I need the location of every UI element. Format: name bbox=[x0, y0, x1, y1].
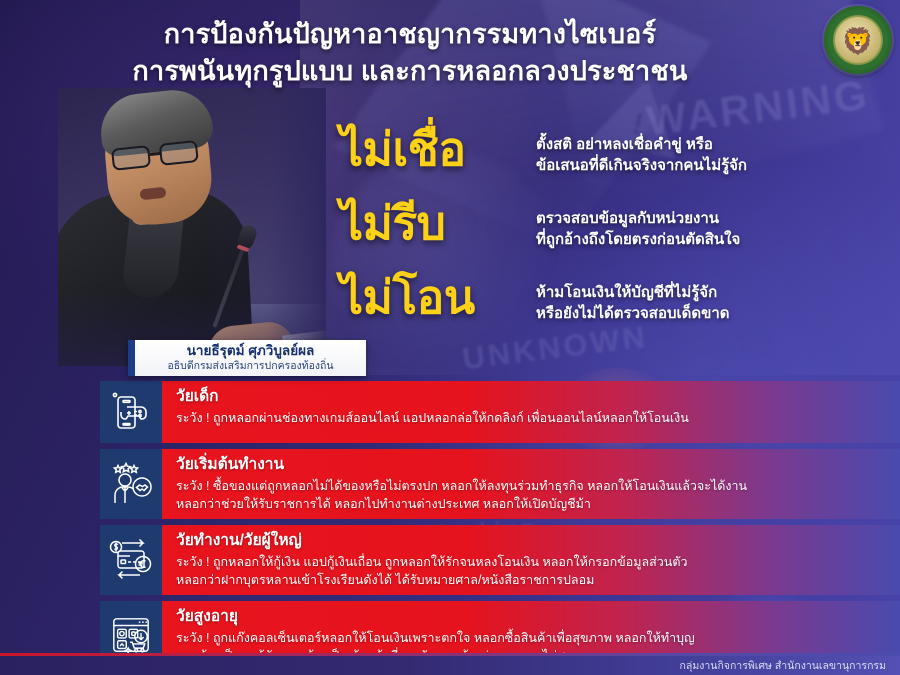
age-group-body-line-2: หลอกว่าฝากบุตรหลานเข้าโรงเรียนดังได้ ได้… bbox=[176, 571, 888, 589]
slogan-keyword: ไม่โอน bbox=[340, 272, 526, 323]
age-group-text: วัยเด็ก ระวัง ! ถูกหลอกผ่านช่องทางเกมส์อ… bbox=[162, 381, 900, 443]
speaker-position: อธิบดีกรมส่งเสริมการปกครองท้องถิ่น bbox=[135, 360, 366, 373]
title-line-1: การป้องกันปัญหาอาชญากรรมทางไซเบอร์ bbox=[0, 16, 820, 53]
seal-lion-glyph: 🦁 bbox=[842, 28, 874, 54]
footer-accent-line bbox=[0, 653, 900, 656]
age-group-title: วัยเด็ก bbox=[176, 388, 888, 407]
slogan-description: ตรวจสอบข้อมูลกับหน่วยงาน ที่ถูกอ้างถึงโด… bbox=[536, 208, 882, 251]
money-transfer-card-icon bbox=[100, 525, 162, 595]
slogan-description-line-2: ข้อเสนอที่ดีเกินจริงจากคนไม่รู้จัก bbox=[536, 155, 882, 176]
slogan-description-line-2: ที่ถูกอ้างถึงโดยตรงก่อนตัดสินใจ bbox=[536, 229, 882, 250]
slogan-keyword: ไม่รีบ bbox=[340, 198, 526, 249]
age-group-title: วัยสูงอายุ bbox=[176, 608, 888, 627]
speaker-name: นายธีรุตม์ ศุภวิบูลย์ผล bbox=[135, 343, 366, 359]
speaker-portrait bbox=[58, 88, 326, 366]
portrait-fade-overlay bbox=[58, 88, 326, 366]
age-group-body-line-1: ระวัง ! ถูกแก๊งคอลเซ็นเตอร์หลอกให้โอนเงิ… bbox=[176, 629, 888, 647]
age-group-list: วัยเด็ก ระวัง ! ถูกหลอกผ่านช่องทางเกมส์อ… bbox=[100, 381, 900, 675]
slogan-description: ตั้งสติ อย่าหลงเชื่อคำขู่ หรือ ข้อเสนอที… bbox=[536, 134, 882, 177]
age-group-body: ระวัง ! ถูกหลอกให้กู้เงิน แอปกู้เงินเถื่… bbox=[176, 553, 888, 589]
age-group-body-line-1: ระวัง ! ซื้อของแต่ถูกหลอกไม่ได้ของหรือไม… bbox=[176, 477, 888, 495]
speaker-name-banner: นายธีรุตม์ ศุภวิบูลย์ผล อธิบดีกรมส่งเสริ… bbox=[128, 340, 366, 376]
poster-root: WARNING UNKNOWN Phishing Hacking การป้อง… bbox=[0, 0, 900, 675]
businessman-handshake-stars-icon bbox=[100, 449, 162, 519]
age-group-row: วัยเริ่มต้นทำงาน ระวัง ! ซื้อของแต่ถูกหล… bbox=[100, 449, 900, 519]
age-group-body-line-1: ระวัง ! ถูกหลอกให้กู้เงิน แอปกู้เงินเถื่… bbox=[176, 553, 888, 571]
slogan-item-3: ไม่โอน ห้ามโอนเงินให้บัญชีที่ไม่รู้จัก ห… bbox=[340, 276, 880, 346]
age-group-body-line-1: ระวัง ! ถูกหลอกผ่านช่องทางเกมส์ออนไลน์ แ… bbox=[176, 409, 888, 427]
slogan-keyword: ไม่เชื่อ bbox=[340, 124, 526, 175]
slogan-item-2: ไม่รีบ ตรวจสอบข้อมูลกับหน่วยงาน ที่ถูกอ้… bbox=[340, 202, 880, 272]
footer-credit: กลุ่มงานกิจการพิเศษ สำนักงานเลขานุการกรม bbox=[680, 657, 886, 674]
header: การป้องกันปัญหาอาชญากรรมทางไซเบอร์ การพน… bbox=[0, 0, 900, 92]
slogan-description-line-1: ห้ามโอนเงินให้บัญชีที่ไม่รู้จัก bbox=[536, 282, 882, 303]
age-group-text: วัยทำงาน/วัยผู้ใหญ่ ระวัง ! ถูกหลอกให้กู… bbox=[162, 525, 900, 595]
age-group-body: ระวัง ! ซื้อของแต่ถูกหลอกไม่ได้ของหรือไม… bbox=[176, 477, 888, 513]
slogan-description-line-2: หรือยังไม่ได้ตรวจสอบเด็ดขาด bbox=[536, 303, 882, 324]
age-group-row: วัยทำงาน/วัยผู้ใหญ่ ระวัง ! ถูกหลอกให้กู… bbox=[100, 525, 900, 595]
smartphone-gamepad-icon bbox=[100, 381, 162, 443]
age-group-title: วัยเริ่มต้นทำงาน bbox=[176, 456, 888, 475]
slogan-description-line-1: ตรวจสอบข้อมูลกับหน่วยงาน bbox=[536, 208, 882, 229]
age-group-text: วัยเริ่มต้นทำงาน ระวัง ! ซื้อของแต่ถูกหล… bbox=[162, 449, 900, 519]
department-seal-icon: 🦁 bbox=[824, 6, 892, 74]
age-group-body: ระวัง ! ถูกหลอกผ่านช่องทางเกมส์ออนไลน์ แ… bbox=[176, 409, 888, 427]
footer-bar: กลุ่มงานกิจการพิเศษ สำนักงานเลขานุการกรม bbox=[0, 653, 900, 675]
page-title: การป้องกันปัญหาอาชญากรรมทางไซเบอร์ การพน… bbox=[0, 16, 820, 90]
slogan-description-line-1: ตั้งสติ อย่าหลงเชื่อคำขู่ หรือ bbox=[536, 134, 882, 155]
slogan-block: ไม่เชื่อ ตั้งสติ อย่าหลงเชื่อคำขู่ หรือ … bbox=[340, 128, 880, 346]
age-group-title: วัยทำงาน/วัยผู้ใหญ่ bbox=[176, 532, 888, 551]
slogan-item-1: ไม่เชื่อ ตั้งสติ อย่าหลงเชื่อคำขู่ หรือ … bbox=[340, 128, 880, 198]
title-line-2: การพนันทุกรูปแบบ และการหลอกลวงประชาชน bbox=[0, 53, 820, 90]
age-group-row: วัยเด็ก ระวัง ! ถูกหลอกผ่านช่องทางเกมส์อ… bbox=[100, 381, 900, 443]
slogan-description: ห้ามโอนเงินให้บัญชีที่ไม่รู้จัก หรือยังไ… bbox=[536, 282, 882, 325]
age-group-body-line-2: หลอกว่าช่วยให้รับราชการได้ หลอกไปทำงานต่… bbox=[176, 495, 888, 513]
